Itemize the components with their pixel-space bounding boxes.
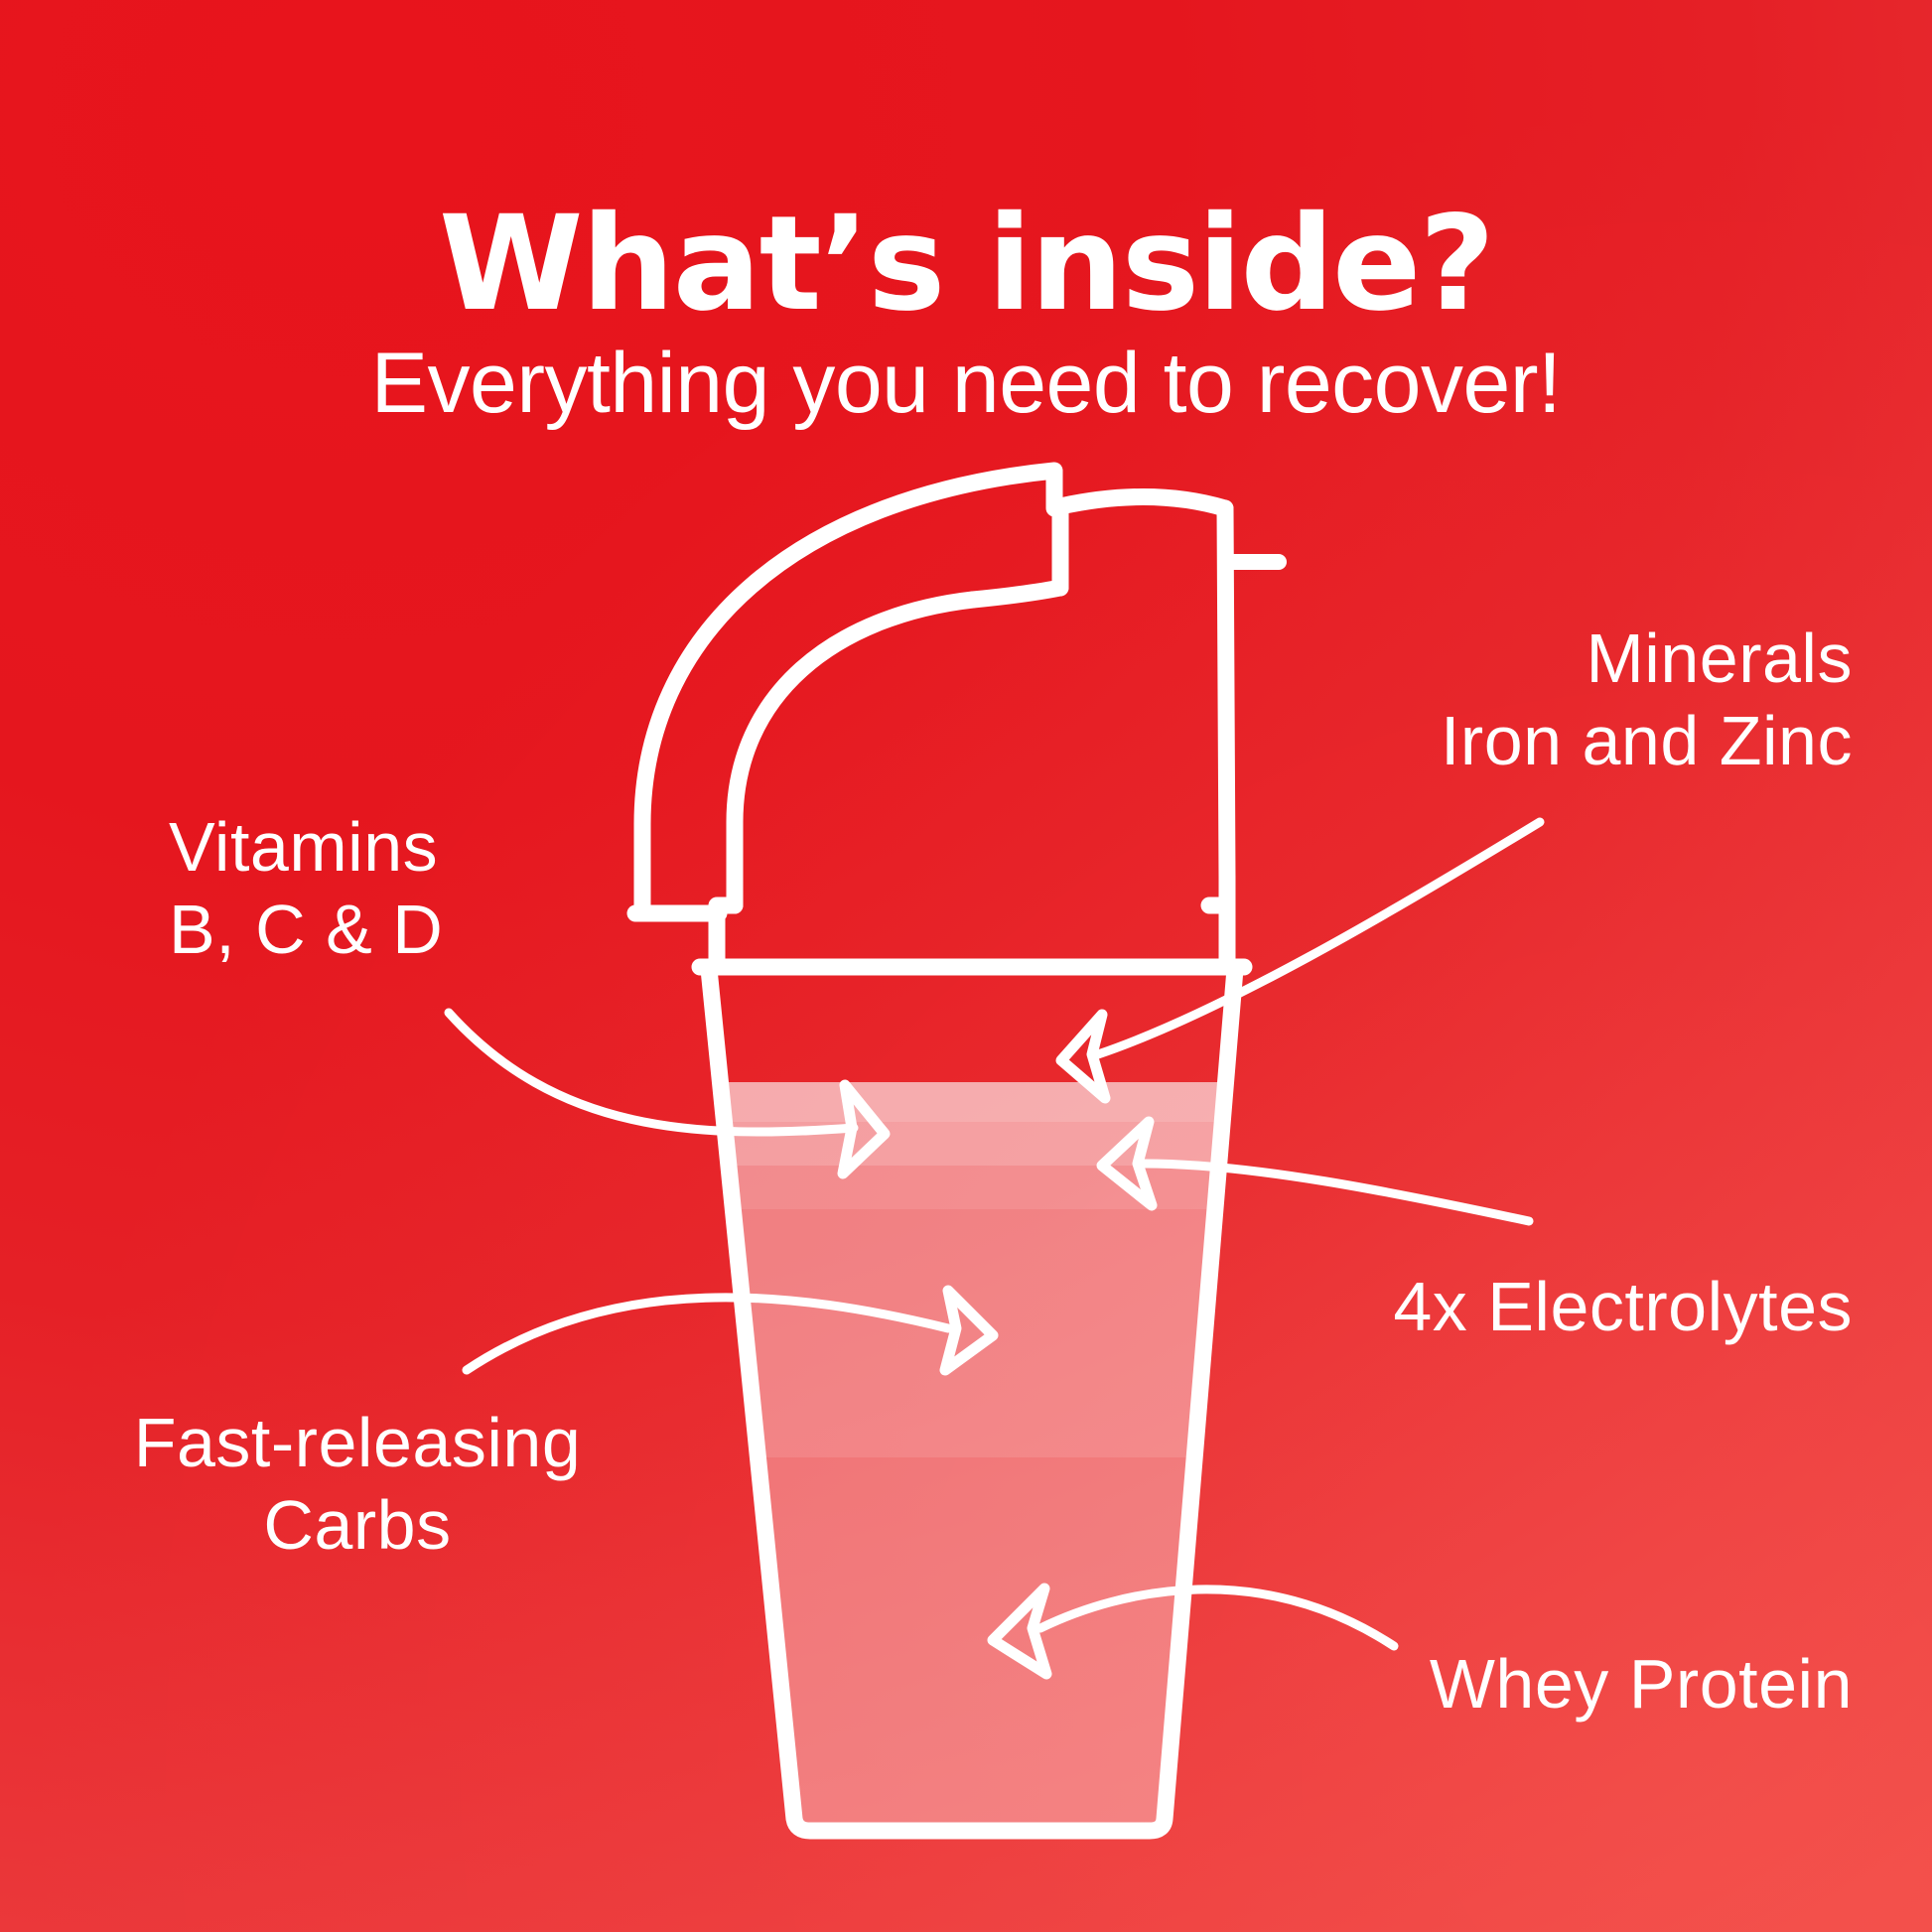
page-title: What’s inside? (0, 199, 1932, 330)
callout-label-fast-releasing-carbs: Fast-releasing Carbs (99, 1402, 616, 1566)
callout-label-minerals: Minerals Iron and Zinc (1158, 618, 1853, 781)
callout-label-whey-protein: Whey Protein (1158, 1643, 1853, 1725)
page-subtitle: Everything you need to recover! (0, 341, 1932, 426)
callout-label-vitamins: Vitamins B, C & D (169, 806, 625, 970)
infographic-poster: What’s inside? Everything you need to re… (0, 0, 1932, 1932)
callout-label-electrolytes: 4x Electrolytes (1158, 1266, 1853, 1348)
text-layer: What’s inside? Everything you need to re… (0, 0, 1932, 1932)
